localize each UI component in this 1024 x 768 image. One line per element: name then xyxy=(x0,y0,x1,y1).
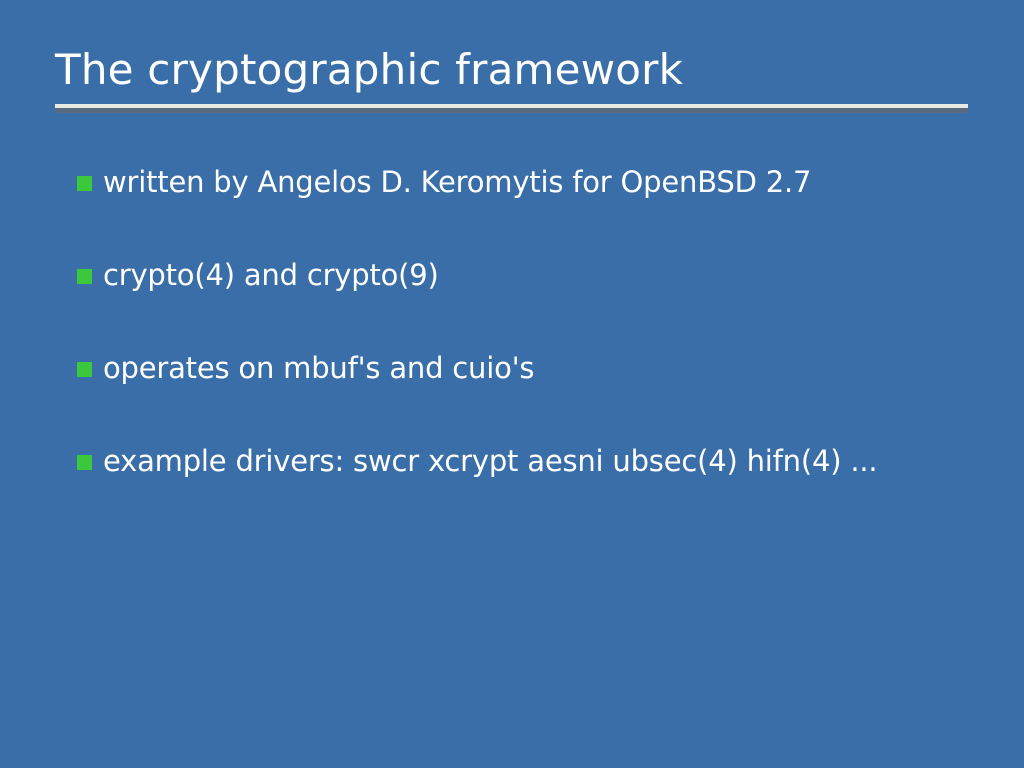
presentation-slide: The cryptographic framework written by A… xyxy=(0,0,1024,768)
bullet-list: written by Angelos D. Keromytis for Open… xyxy=(77,162,997,534)
slide-title-block: The cryptographic framework xyxy=(55,42,968,98)
list-item-label: operates on mbuf's and cuio's xyxy=(103,348,997,388)
green-square-bullet-icon xyxy=(77,269,92,284)
list-item-label: crypto(4) and crypto(9) xyxy=(103,255,997,295)
list-item: crypto(4) and crypto(9) xyxy=(77,255,997,348)
green-square-bullet-icon xyxy=(77,362,92,377)
green-square-bullet-icon xyxy=(77,455,92,470)
list-item: example drivers: swcr xcrypt aesni ubsec… xyxy=(77,441,997,534)
title-divider xyxy=(55,104,968,113)
green-square-bullet-icon xyxy=(77,176,92,191)
list-item-label: example drivers: swcr xcrypt aesni ubsec… xyxy=(103,441,997,481)
page-title: The cryptographic framework xyxy=(55,42,968,98)
list-item: operates on mbuf's and cuio's xyxy=(77,348,997,441)
list-item: written by Angelos D. Keromytis for Open… xyxy=(77,162,997,255)
title-divider-shadow xyxy=(55,108,968,113)
list-item-label: written by Angelos D. Keromytis for Open… xyxy=(103,162,997,202)
